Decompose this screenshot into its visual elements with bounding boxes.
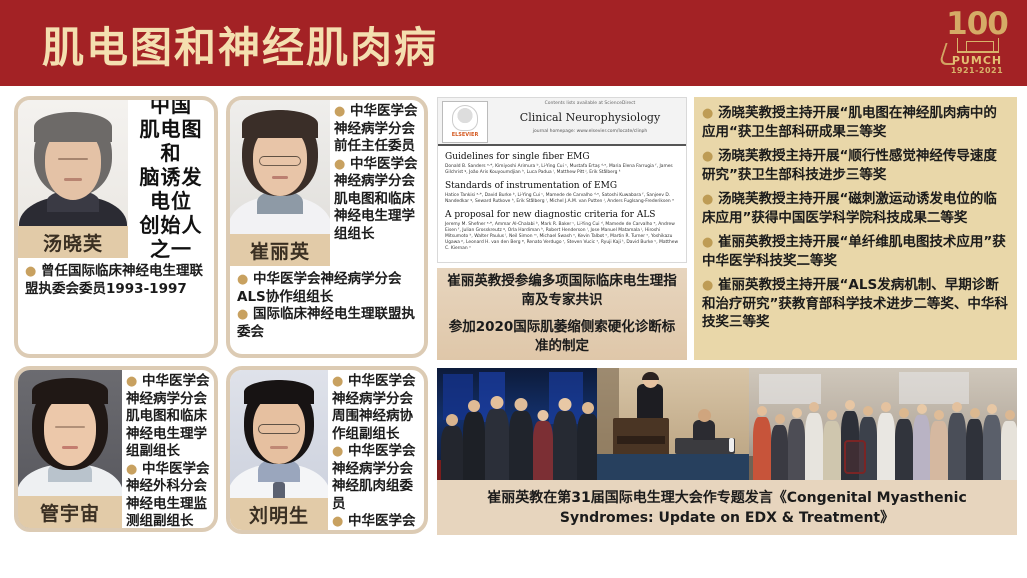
credential-text: 中华医学会神经病学分会肌电图和临床神经电生理学组副组长 <box>126 373 210 459</box>
bullet-icon: ● <box>332 444 343 459</box>
slide-header: 肌电图和神经肌肉病 100 PUMCH 1921-2021 <box>0 0 1027 86</box>
journal-availability-line: Contents lists available at ScienceDirec… <box>498 101 682 106</box>
page-title: 肌电图和神经肌肉病 <box>42 14 438 75</box>
person-credentials-side-liumingsheng: ● 中华医学会神经病学分会周围神经病协作组副组长 ● 中华医学会神经病学分会神经… <box>328 370 424 530</box>
caption-line-1: 崔丽英教在第31届国际电生理大会作专题发言《Congenital Myasthe… <box>487 488 967 508</box>
award-item: ● 崔丽英教授主持开展“ALS发病机制、早期诊断和治疗研究”获教育部科学技术进步… <box>702 276 1009 331</box>
portrait-photo-liumingsheng: 刘明生 <box>230 370 328 530</box>
journal-caption-line-1: 崔丽英教授参编多项国际临床电生理指南及专家共识 <box>445 272 679 310</box>
journal-article-item: A proposal for new diagnostic criteria f… <box>445 210 679 252</box>
bullet-icon: ● <box>334 104 345 119</box>
slide-root: 肌电图和神经肌肉病 100 PUMCH 1921-2021 <box>0 0 1027 578</box>
bullet-icon: ● <box>237 272 248 287</box>
journal-masthead: ELSEVIER Contents lists available at Sci… <box>438 98 686 146</box>
person-name-label: 汤晓芙 <box>18 226 128 258</box>
person-card-guanyuzhou[interactable]: 管宇宙 ● 中华医学会神经病学分会肌电图和临床神经电生理学组副组长 ● 中华医学… <box>14 366 218 532</box>
logo-years-text: 1921-2021 <box>941 66 1013 75</box>
credential-text: 中华医学会神经病学分会肌电图和临床神经电生理学组组长 <box>334 156 418 242</box>
awards-panel: ● 汤晓芙教授主持开展“肌电图在神经肌肉病中的应用“获卫生部科研成果三等奖 ● … <box>694 97 1017 360</box>
article-title: Standards of instrumentation of EMG <box>445 181 679 191</box>
person-card-cuiliying[interactable]: 崔丽英 ● 中华医学会神经病学分会前任主任委员 ● 中华医学会神经病学分会肌电图… <box>226 96 428 358</box>
journal-name: Clinical Neurophysiology <box>498 111 682 124</box>
logo-building-icon <box>957 38 999 53</box>
elsevier-wordmark: ELSEVIER <box>452 132 479 138</box>
bullet-icon: ● <box>126 462 137 477</box>
journal-article-item: Standards of instrumentation of EMG Hati… <box>445 181 679 205</box>
article-title: Guidelines for single fiber EMG <box>445 152 679 162</box>
journal-article-list: Guidelines for single fiber EMG Donald B… <box>438 146 686 252</box>
award-text: 崔丽英教授主持开展“ALS发病机制、早期诊断和治疗研究”获教育部科学技术进步二等… <box>702 277 1008 330</box>
bullet-icon: ● <box>332 514 343 529</box>
article-authors: Jeremy M. Shefner ᵃ·*, Ammar Al-Chalabi … <box>445 222 679 252</box>
conference-group-stage-photo <box>437 368 597 480</box>
eyeglasses <box>259 156 301 166</box>
person-name-label: 崔丽英 <box>230 234 330 266</box>
elsevier-tree-icon <box>452 105 478 131</box>
bullet-icon: ● <box>126 374 137 389</box>
person-card-liumingsheng[interactable]: 刘明生 ● 中华医学会神经病学分会周围神经病协作组副组长 ● 中华医学会神经病学… <box>226 366 428 534</box>
photo-strip-caption: 崔丽英教在第31届国际电生理大会作专题发言《Congenital Myasthe… <box>437 480 1017 535</box>
person-credentials-bottom-cuiliying: ● 中华医学会神经病学分会ALS协作组组长 ● 国际临床神经电生理联盟执委会 <box>230 266 424 347</box>
credential-text: 国际临床神经电生理联盟执委会 <box>237 306 415 340</box>
person-credentials-tangxiaofu: ● 曾任国际临床神经电生理联盟执委会委员1993-1997 <box>18 258 214 304</box>
article-authors: Donald B. Sanders ᵃ·*, Kimiyoshi Arimura… <box>445 164 679 176</box>
bullet-icon: ● <box>332 374 343 389</box>
portrait-photo-cuiliying: 崔丽英 <box>230 100 330 266</box>
bullet-icon: ● <box>237 307 248 322</box>
bullet-icon: ● <box>25 264 36 279</box>
award-text: 崔丽英教授主持开展“单纤维肌电图技术应用”获中华医学科技奖二等奖 <box>702 234 1006 269</box>
eyeglasses <box>258 424 300 434</box>
credential-text: 中华医学会神经病学分会神经肌肉组委员 <box>332 443 416 512</box>
award-text: 汤晓芙教授主持开展“顺行性感觉神经传导速度研究”获卫生部科技进步三等奖 <box>702 148 997 183</box>
bullet-icon: ● <box>334 157 345 172</box>
credential-text: 中华医学会神经病学分会前任主任委员 <box>334 103 418 154</box>
article-authors: Hatice Tankisi ᵃ·*, David Burke ᵇ, Li-Yi… <box>445 193 679 205</box>
award-item: ● 汤晓芙教授主持开展“顺行性感觉神经传导速度研究”获卫生部科技进步三等奖 <box>702 147 1009 184</box>
award-item: ● 汤晓芙教授主持开展“肌电图在神经肌肉病中的应用“获卫生部科研成果三等奖 <box>702 104 1009 141</box>
bullet-icon: ● <box>702 106 713 121</box>
journal-caption-line-2: 参加2020国际肌萎缩侧索硬化诊断标准的制定 <box>445 318 679 356</box>
journal-article-screenshot: ELSEVIER Contents lists available at Sci… <box>437 97 687 263</box>
bullet-icon: ● <box>702 235 713 250</box>
bullet-icon: ● <box>702 278 713 293</box>
large-group-conference-photo <box>749 368 1017 480</box>
award-item: ● 汤晓芙教授主持开展“磁刺激运动诱发电位的临床应用”获得中国医学科学院科技成果… <box>702 190 1009 227</box>
person-credentials-side-cuiliying: ● 中华医学会神经病学分会前任主任委员 ● 中华医学会神经病学分会肌电图和临床神… <box>330 100 424 266</box>
caption-line-2: Syndromes: Update on EDX & Treatment》 <box>560 508 894 528</box>
credential-text: 中华医学会神经病学分会周围神经病协作组副组长 <box>332 373 416 442</box>
pumch-centenary-logo: 100 PUMCH 1921-2021 <box>941 7 1013 79</box>
bullet-icon: ● <box>702 149 713 164</box>
person-card-tangxiaofu[interactable]: 汤晓芙 中国 肌电图 和 脑诱发 电位 创始人 之一 ● 曾任国际临床神经电生理… <box>14 96 218 358</box>
award-item: ● 崔丽英教授主持开展“单纤维肌电图技术应用”获中华医学科技奖二等奖 <box>702 233 1009 270</box>
award-text: 汤晓芙教授主持开展“磁刺激运动诱发电位的临床应用”获得中国医学科学院科技成果二等… <box>702 191 997 226</box>
person-headline-tangxiaofu: 中国 肌电图 和 脑诱发 电位 创始人 之一 <box>128 100 214 258</box>
portrait-photo-guanyuzhou: 管宇宙 <box>18 370 122 528</box>
credential-text: 中华医学会神经外科分会神经电生理监测组副组长 <box>126 461 210 530</box>
photo-row <box>437 368 1017 480</box>
elsevier-logo: ELSEVIER <box>442 101 488 143</box>
journal-caption-box: 崔丽英教授参编多项国际临床电生理指南及专家共识 参加2020国际肌萎缩侧索硬化诊… <box>437 268 687 360</box>
article-title: A proposal for new diagnostic criteria f… <box>445 210 679 220</box>
logo-number: 100 <box>941 7 1013 41</box>
credential-text: 中华医学会神经病学分会ALS协作组委员 <box>332 513 416 534</box>
person-credentials-side-guanyuzhou: ● 中华医学会神经病学分会肌电图和临床神经电生理学组副组长 ● 中华医学会神经外… <box>122 370 214 528</box>
bullet-icon: ● <box>702 192 713 207</box>
credential-text: 曾任国际临床神经电生理联盟执委会委员1993-1997 <box>25 263 203 297</box>
person-name-label: 刘明生 <box>230 498 328 530</box>
journal-homepage-line: journal homepage: www.elsevier.com/locat… <box>498 129 682 134</box>
journal-article-item: Guidelines for single fiber EMG Donald B… <box>445 152 679 176</box>
credential-text: 中华医学会神经病学分会ALS协作组组长 <box>237 271 402 305</box>
award-text: 汤晓芙教授主持开展“肌电图在神经肌肉病中的应用“获卫生部科研成果三等奖 <box>702 105 997 140</box>
podium-speaker-photo <box>597 368 749 480</box>
conference-photo-strip: 崔丽英教在第31届国际电生理大会作专题发言《Congenital Myasthe… <box>437 368 1017 535</box>
person-name-label: 管宇宙 <box>18 496 122 528</box>
portrait-photo-tangxiaofu: 汤晓芙 <box>18 100 128 258</box>
